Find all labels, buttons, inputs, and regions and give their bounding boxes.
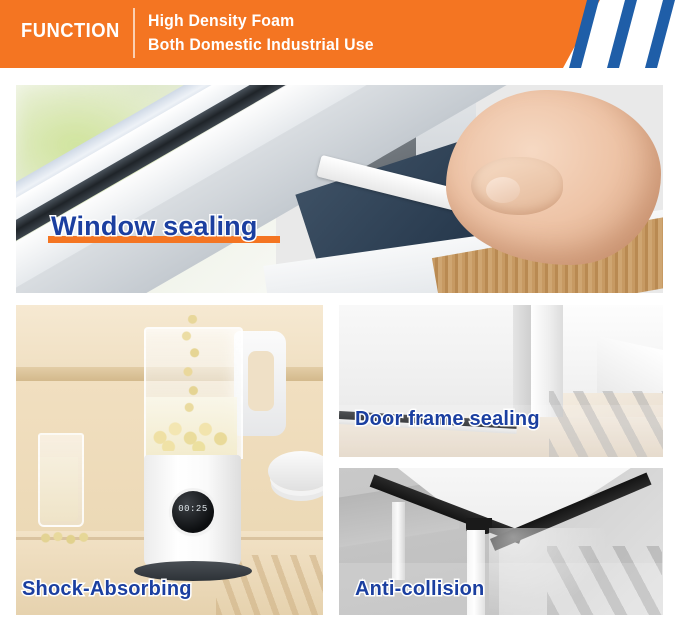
stripe-icon-2 <box>607 0 637 68</box>
header-banner: FUNCTION High Density Foam Both Domestic… <box>0 0 679 68</box>
caption-shock-absorbing: Shock-Absorbing <box>22 578 192 601</box>
loose-soybeans <box>40 531 96 545</box>
caption-window-sealing: Window sealing <box>51 211 258 242</box>
caption-anti-collision: Anti-collision <box>355 578 484 601</box>
function-label: FUNCTION <box>21 20 120 43</box>
infographic-page: FUNCTION High Density Foam Both Domestic… <box>0 0 679 630</box>
panel-door-frame-sealing <box>339 305 663 457</box>
stripe-icon-3 <box>645 0 675 68</box>
thumbnail <box>486 177 520 203</box>
stripe-icon-1 <box>569 0 599 68</box>
header-stripe-group <box>566 0 679 68</box>
blender-handle-opening <box>248 351 274 411</box>
soy-milk <box>40 457 78 521</box>
panel-window-sealing <box>16 85 663 293</box>
header-line-1: High Density Foam <box>148 9 374 33</box>
header-text-block: High Density Foam Both Domestic Industri… <box>148 9 391 57</box>
blender-display: 00:25 <box>172 491 214 533</box>
header-line-2: Both Domestic Industrial Use <box>148 33 374 57</box>
falling-soybeans <box>176 315 206 420</box>
display-timer-value: 00:25 <box>172 504 214 514</box>
panel-shock-absorbing: 00:25 <box>16 305 323 615</box>
header-divider <box>133 8 135 58</box>
caption-door-frame-sealing: Door frame sealing <box>355 408 540 431</box>
soybean-pile <box>150 417 234 451</box>
